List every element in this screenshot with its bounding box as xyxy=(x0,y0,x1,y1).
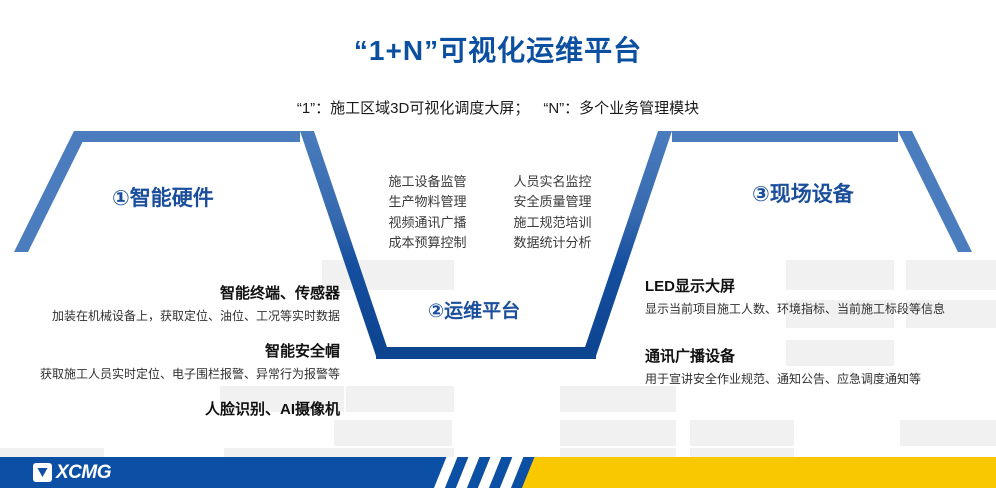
footer-diagonal-stripes xyxy=(440,457,530,488)
left-block-title: 人脸识别、AI摄像机 xyxy=(0,399,340,422)
module-grid: 施工设备监管 人员实名监控 生产物料管理 安全质量管理 视频通讯广播 施工规范培… xyxy=(374,173,606,253)
right-block-desc: 显示当前项目施工人数、环境指标、当前施工标段等信息 xyxy=(645,300,975,319)
right-block-desc: 用于宣讲安全作业规范、通知公告、应急调度通知等 xyxy=(645,370,975,389)
page-title: “1+N”可视化运维平台 xyxy=(0,34,996,68)
pillar-label-center: ②运维平台 xyxy=(428,296,520,323)
module-item: 视频通讯广播 xyxy=(374,214,481,232)
right-detail-block-1: LED显示大屏 显示当前项目施工人数、环境指标、当前施工标段等信息 xyxy=(645,276,975,318)
xcmg-logo: XCMG xyxy=(33,462,111,483)
page-subtitle: “1”：施工区域3D可视化调度大屏；“N”：多个业务管理模块 xyxy=(248,97,748,121)
footer-bar: XCMG xyxy=(0,457,996,488)
pillar-label-right: ③现场设备 xyxy=(752,178,854,208)
left-detail-block-2: 智能安全帽 获取施工人员实时定位、电子围栏报警、异常行为报警等 xyxy=(0,341,340,383)
pillar-label-left: ①智能硬件 xyxy=(112,182,214,212)
xcmg-logo-mark-icon xyxy=(33,463,52,482)
left-block-desc: 加装在机械设备上，获取定位、油位、工况等实时数据 xyxy=(0,307,340,326)
module-item: 成本预算控制 xyxy=(374,234,481,252)
subtitle-part-two: “N”：多个业务管理模块 xyxy=(543,100,699,117)
xcmg-logo-text: XCMG xyxy=(56,462,111,484)
module-item: 施工设备监管 xyxy=(374,173,481,191)
right-detail-block-2: 通讯广播设备 用于宣讲安全作业规范、通知公告、应急调度通知等 xyxy=(645,346,975,388)
right-block-title: LED显示大屏 xyxy=(645,276,975,299)
left-block-desc: 获取施工人员实时定位、电子围栏报警、异常行为报警等 xyxy=(0,365,340,384)
subtitle-part-one: “1”：施工区域3D可视化调度大屏； xyxy=(297,100,530,117)
right-block-title: 通讯广播设备 xyxy=(645,346,975,369)
slide-canvas: “1+N”可视化运维平台 “1”：施工区域3D可视化调度大屏；“N”：多个业务管… xyxy=(0,0,996,488)
module-item: 数据统计分析 xyxy=(499,234,606,252)
left-detail-block-3: 人脸识别、AI摄像机 xyxy=(0,399,340,423)
left-detail-block-1: 智能终端、传感器 加装在机械设备上，获取定位、油位、工况等实时数据 xyxy=(0,283,340,325)
left-block-title: 智能安全帽 xyxy=(0,341,340,364)
module-item: 安全质量管理 xyxy=(499,193,606,211)
module-item: 人员实名监控 xyxy=(499,173,606,191)
module-item: 生产物料管理 xyxy=(374,193,481,211)
left-block-title: 智能终端、传感器 xyxy=(0,283,340,306)
module-item: 施工规范培训 xyxy=(499,214,606,232)
